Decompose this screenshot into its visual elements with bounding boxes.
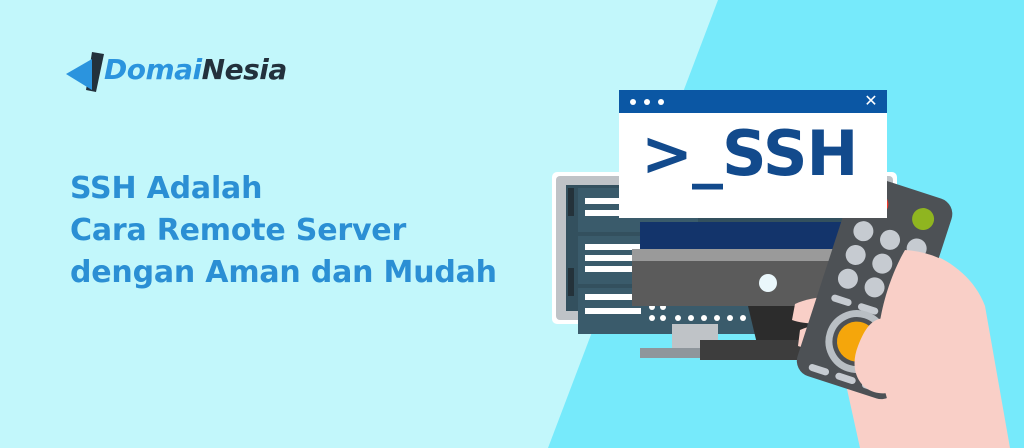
- terminal-dot-2-icon: [644, 99, 650, 105]
- page-title: SSH Adalah Cara Remote Server dengan Ama…: [70, 168, 497, 294]
- terminal-dot-1-icon: [630, 99, 636, 105]
- terminal-prompt-text: >_SSH: [641, 123, 857, 185]
- headline-line-1: SSH Adalah: [70, 168, 497, 210]
- brand-logo[interactable]: DomaiNesia: [62, 50, 242, 96]
- brand-name-part-1: Domai: [104, 53, 202, 86]
- headline-line-2: Cara Remote Server: [70, 210, 497, 252]
- brand-name-part-2: Nesia: [202, 53, 287, 86]
- brand-name: DomaiNesia: [104, 53, 287, 86]
- terminal-window[interactable]: ✕ >_SSH: [619, 90, 887, 218]
- terminal-title-bar: ✕: [619, 90, 887, 113]
- domainesia-triangle-logo-icon: [62, 52, 108, 94]
- ssh-article-banner: ✕ >_SSH DomaiNesia SSH Adalah Cara Remot…: [0, 0, 1024, 448]
- terminal-dot-3-icon: [658, 99, 664, 105]
- headline-line-3: dengan Aman dan Mudah: [70, 252, 497, 294]
- terminal-body: >_SSH: [619, 113, 887, 218]
- close-icon[interactable]: ✕: [863, 93, 879, 109]
